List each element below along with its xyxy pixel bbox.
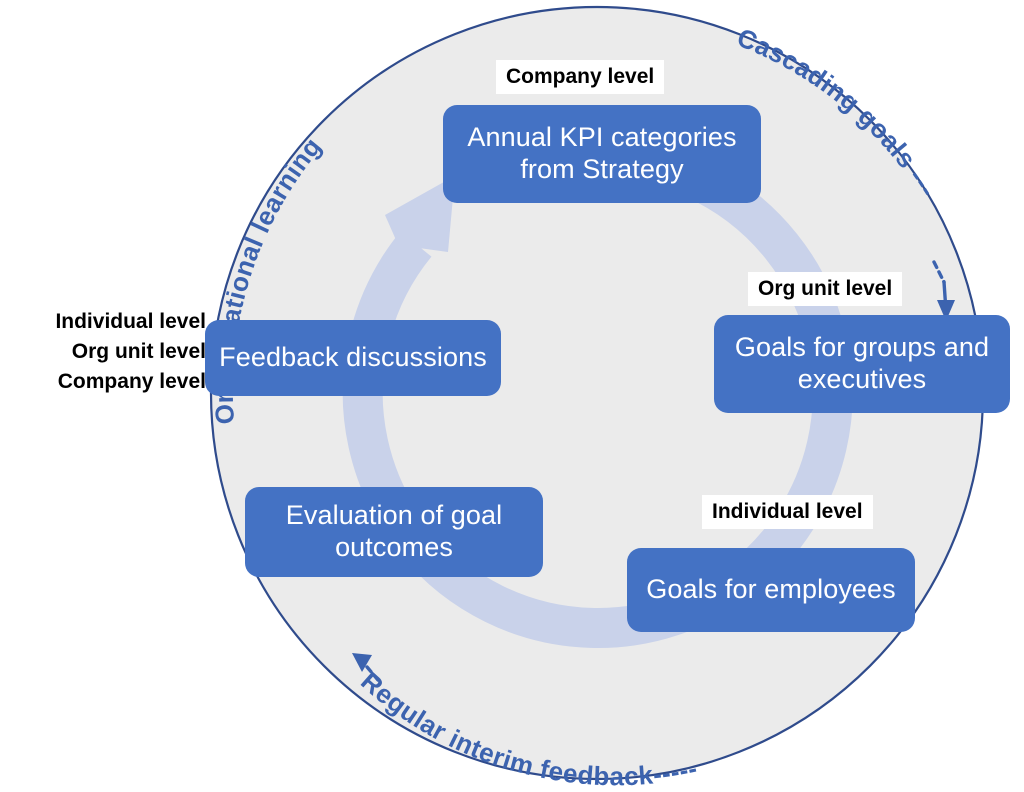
left-levels-list: Individual level Org unit level Company … bbox=[10, 307, 206, 396]
box-evaluation-of-goal-outcomes[interactable]: Evaluation of goal outcomes bbox=[245, 487, 543, 577]
caption-individual-level: Individual level bbox=[702, 495, 873, 529]
box-goals-for-groups-and-executives[interactable]: Goals for groups and executives bbox=[714, 315, 1010, 413]
diagram-canvas: Organizational learning Cascading goals … bbox=[0, 0, 1024, 792]
box-annual-kpi-categories[interactable]: Annual KPI categories from Strategy bbox=[443, 105, 761, 203]
caption-org-unit-level: Org unit level bbox=[748, 272, 902, 306]
left-level-individual: Individual level bbox=[10, 307, 206, 337]
box-goals-for-employees[interactable]: Goals for employees bbox=[627, 548, 915, 632]
box-feedback-discussions[interactable]: Feedback discussions bbox=[205, 320, 501, 396]
left-level-company: Company level bbox=[10, 367, 206, 397]
left-level-org-unit: Org unit level bbox=[10, 337, 206, 367]
caption-company-level: Company level bbox=[496, 60, 664, 94]
